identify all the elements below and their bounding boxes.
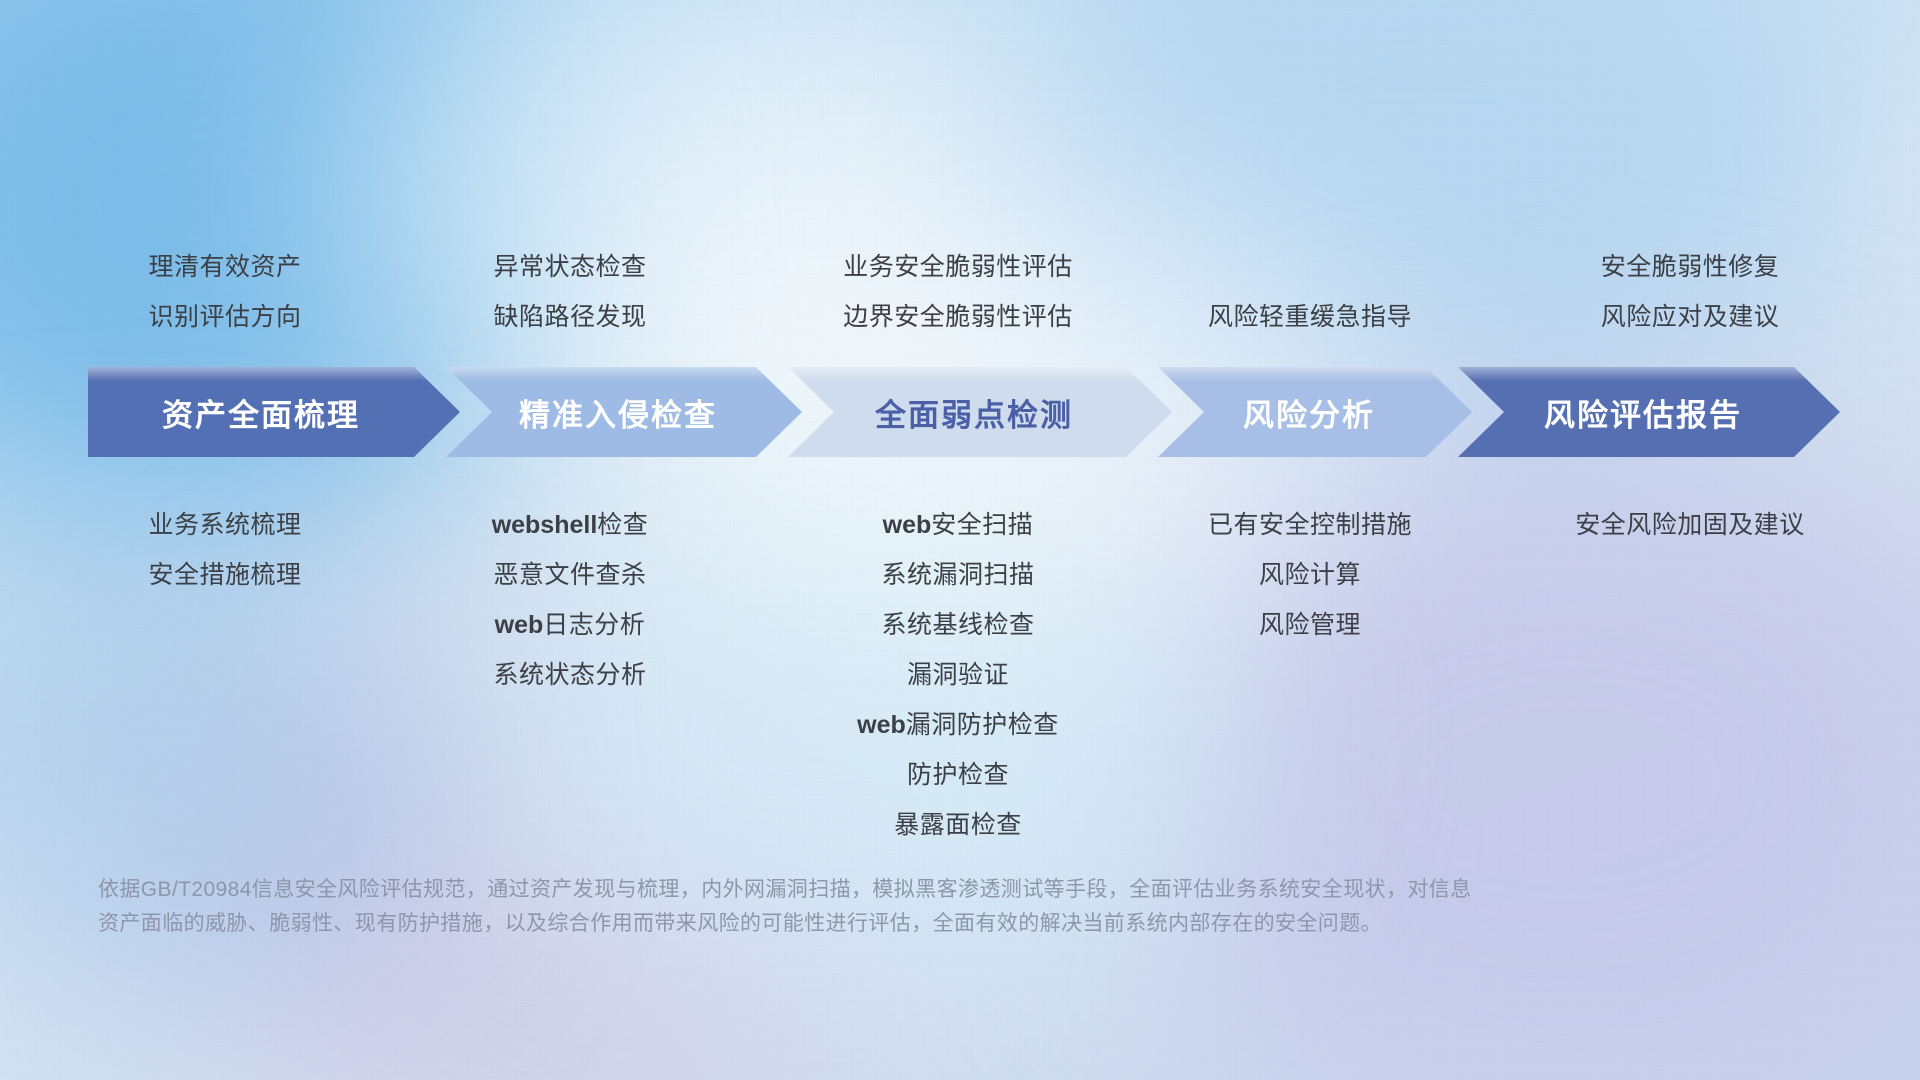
stage-bottom-notes-intrusion-check: webshell检查恶意文件查杀web日志分析系统状态分析: [360, 500, 780, 700]
stage-note: 恶意文件查杀: [360, 550, 780, 600]
stage-note: 业务安全脆弱性评估: [748, 242, 1168, 292]
stage-note: 异常状态检查: [360, 242, 780, 292]
stage-note: 风险应对及建议: [1480, 292, 1900, 342]
process-stage-intrusion-check[interactable]: 精准入侵检查: [446, 367, 802, 457]
stage-note: web漏洞防护检查: [748, 700, 1168, 750]
stage-note: 风险管理: [1100, 600, 1520, 650]
stage-top-notes-risk-analysis: 风险轻重缓急指导: [1100, 292, 1520, 342]
stage-highlight-sheen: [446, 367, 802, 381]
footer-description: 依据GB/T20984信息安全风险评估规范，通过资产发现与梳理，内外网漏洞扫描，…: [98, 873, 1738, 941]
stage-highlight-sheen: [1158, 367, 1472, 381]
stage-highlight-sheen: [788, 367, 1172, 381]
stage-note: 系统状态分析: [360, 650, 780, 700]
stage-note: 风险计算: [1100, 550, 1520, 600]
process-stage-risk-report[interactable]: 风险评估报告: [1458, 367, 1840, 457]
stage-title-risk-analysis: 风险分析: [1243, 390, 1375, 435]
stage-title-asset-inventory: 资产全面梳理: [162, 390, 360, 435]
process-stage-weakness-detection[interactable]: 全面弱点检测: [788, 367, 1172, 457]
stage-note: webshell检查: [360, 500, 780, 550]
process-stage-risk-analysis[interactable]: 风险分析: [1158, 367, 1472, 457]
stage-bottom-notes-risk-report: 安全风险加固及建议: [1480, 500, 1900, 550]
stage-note: 暴露面检查: [748, 800, 1168, 850]
footer-description-line-1: 依据GB/T20984信息安全风险评估规范，通过资产发现与梳理，内外网漏洞扫描，…: [98, 873, 1738, 907]
stage-title-intrusion-check: 精准入侵检查: [519, 390, 717, 435]
process-stage-asset-inventory[interactable]: 资产全面梳理: [88, 367, 460, 457]
process-diagram: 理清有效资产识别评估方向 异常状态检查缺陷路径发现 业务安全脆弱性评估边界安全脆…: [0, 0, 1920, 1080]
stage-bottom-notes-risk-analysis: 已有安全控制措施风险计算风险管理: [1100, 500, 1520, 650]
stage-note: 已有安全控制措施: [1100, 500, 1520, 550]
stage-note: 防护检查: [748, 750, 1168, 800]
stage-note: 安全脆弱性修复: [1480, 242, 1900, 292]
stage-note: 风险轻重缓急指导: [1100, 292, 1520, 342]
stage-note: 缺陷路径发现: [360, 292, 780, 342]
footer-description-line-2: 资产面临的威胁、脆弱性、现有防护措施，以及综合作用而带来风险的可能性进行评估，全…: [98, 907, 1738, 941]
stage-top-notes-risk-report: 安全脆弱性修复风险应对及建议: [1480, 242, 1900, 342]
stage-highlight-sheen: [1458, 367, 1840, 381]
stage-title-risk-report: 风险评估报告: [1544, 390, 1742, 435]
stage-note: web日志分析: [360, 600, 780, 650]
process-arrow-band: 资产全面梳理精准入侵检查全面弱点检测风险分析风险评估报告: [88, 367, 1848, 457]
stage-note: 安全风险加固及建议: [1480, 500, 1900, 550]
stage-highlight-sheen: [88, 367, 460, 381]
stage-title-weakness-detection: 全面弱点检测: [875, 390, 1073, 435]
stage-note: 漏洞验证: [748, 650, 1168, 700]
stage-top-notes-intrusion-check: 异常状态检查缺陷路径发现: [360, 242, 780, 342]
